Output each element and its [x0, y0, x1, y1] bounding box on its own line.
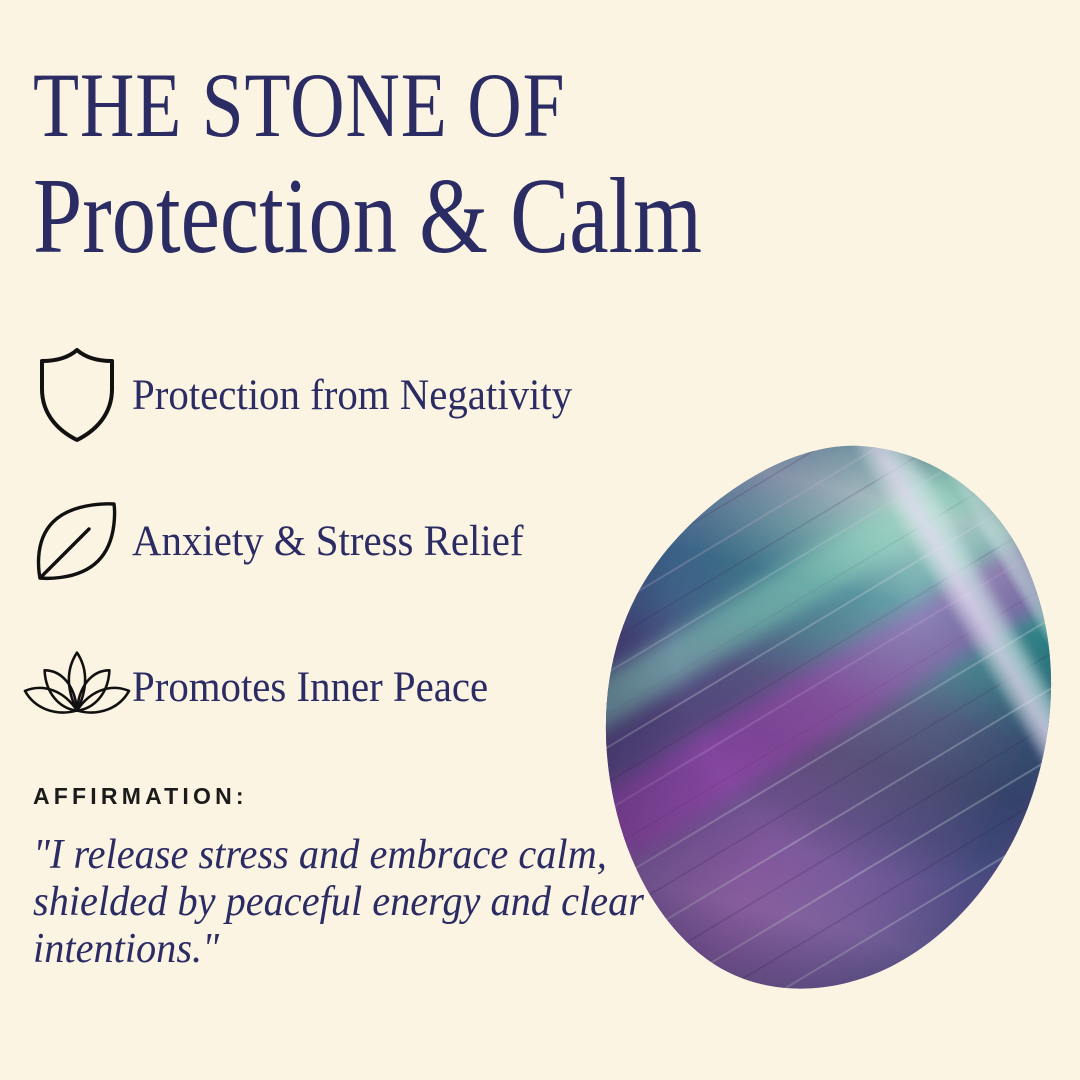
affirmation-heading: AFFIRMATION:	[33, 783, 693, 810]
feature-label-anxiety: Anxiety & Stress Relief	[132, 517, 523, 566]
affirmation-block: AFFIRMATION: "I release stress and embra…	[33, 783, 693, 973]
feature-item-peace: Promotes Inner Peace	[22, 637, 722, 737]
feature-label-protection: Protection from Negativity	[132, 371, 572, 420]
feature-item-anxiety: Anxiety & Stress Relief	[22, 491, 722, 591]
page-title-line-2: Protection & Calm	[33, 163, 837, 271]
affirmation-quote: "I release stress and embrace calm, shie…	[33, 832, 667, 973]
feature-label-peace: Promotes Inner Peace	[132, 663, 488, 712]
page-title-line-1: THE STONE OF	[33, 62, 837, 149]
page-title: THE STONE OF Protection & Calm	[33, 62, 1013, 271]
feature-list: Protection from Negativity Anxiety & Str…	[22, 345, 722, 783]
infographic-page: THE STONE OF Protection & Calm Protectio…	[0, 0, 1080, 1080]
lotus-icon	[22, 647, 132, 727]
feature-item-protection: Protection from Negativity	[22, 345, 722, 445]
shield-icon	[22, 347, 132, 443]
leaf-icon	[22, 497, 132, 585]
